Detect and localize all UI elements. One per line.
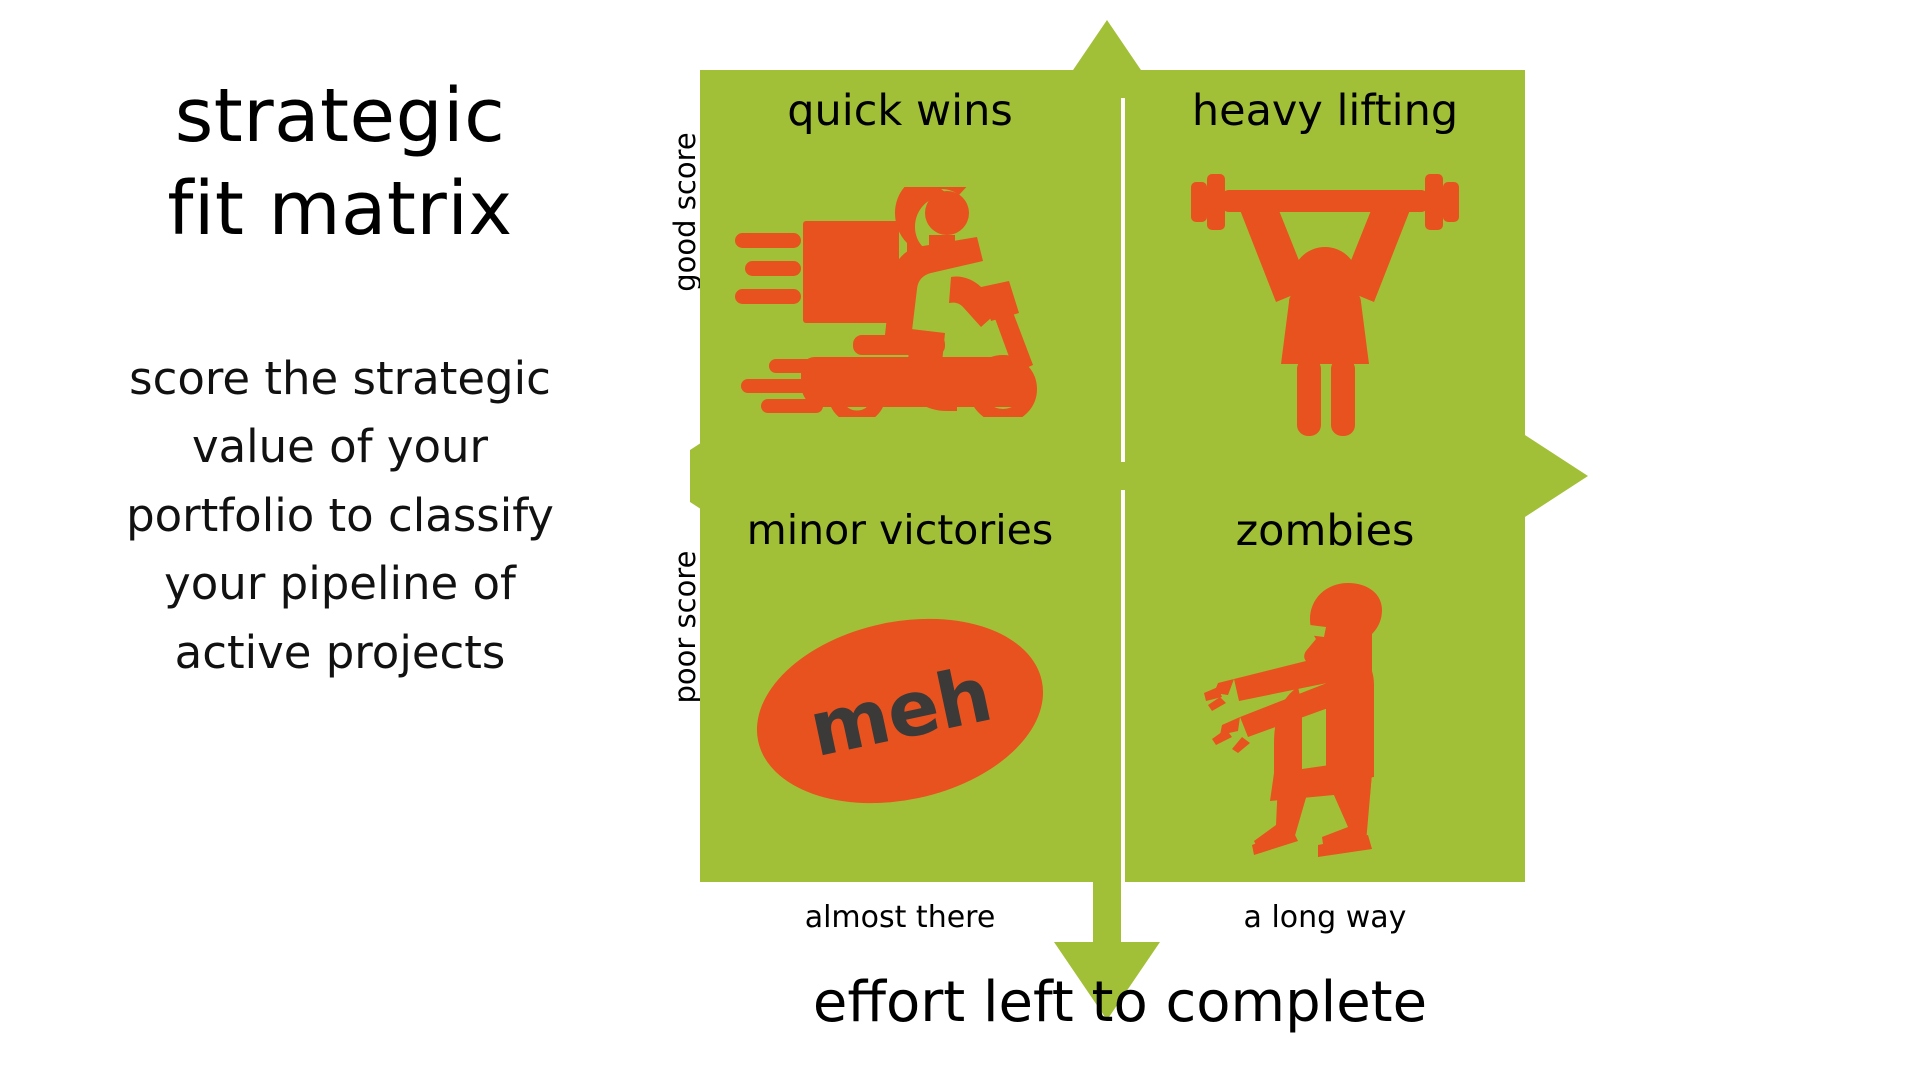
quadrant-heavy-lifting[interactable]: heavy lifting xyxy=(1125,70,1525,462)
quadrant-zombies[interactable]: zombies xyxy=(1125,490,1525,882)
delivery-scooter-icon xyxy=(700,152,1100,452)
strategic-fit-matrix: strategic value good score poor score qu… xyxy=(690,20,1880,1080)
x-axis-high-label: a long way xyxy=(1125,900,1525,935)
meh-badge: meh xyxy=(755,622,1045,822)
quadrant-label: minor victories xyxy=(700,506,1100,554)
quadrant-minor-victories[interactable]: minor victories meh xyxy=(700,490,1100,882)
page-description: score the strategic value of your portfo… xyxy=(120,345,560,687)
meh-label: meh xyxy=(740,594,1061,828)
y-axis-high-label: good score xyxy=(668,112,702,312)
quadrant-label: zombies xyxy=(1125,506,1525,556)
slide-canvas: strategic fit matrix score the strategic… xyxy=(0,0,1920,1080)
weightlifter-icon xyxy=(1125,152,1525,452)
meh-badge-icon: meh xyxy=(700,572,1100,872)
x-axis-title: effort left to complete xyxy=(690,970,1550,1035)
quadrant-label: quick wins xyxy=(700,86,1100,136)
x-axis-low-label: almost there xyxy=(700,900,1100,935)
quadrant-label: heavy lifting xyxy=(1125,86,1525,136)
quadrant-quick-wins[interactable]: quick wins xyxy=(700,70,1100,462)
y-axis-low-label: poor score xyxy=(668,527,702,727)
left-text-panel: strategic fit matrix score the strategic… xyxy=(60,40,620,1040)
zombie-icon xyxy=(1125,572,1525,872)
page-title: strategic fit matrix xyxy=(167,70,512,255)
page-title-line-2: fit matrix xyxy=(167,163,512,256)
page-title-line-1: strategic xyxy=(167,70,512,163)
